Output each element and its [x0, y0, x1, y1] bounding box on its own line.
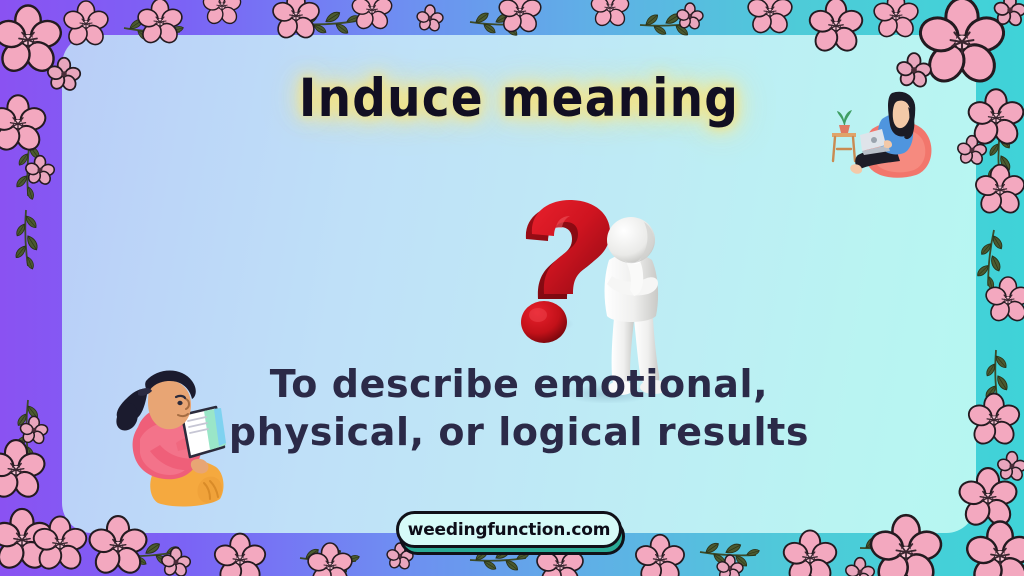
watermark-badge[interactable]: weedingfunction.com: [396, 511, 628, 555]
watermark-text: weedingfunction.com: [408, 520, 611, 540]
woman-reading-book-illustration: [104, 365, 240, 515]
page-title: Induce meaning: [299, 68, 739, 130]
woman-on-beanbag-with-laptop-illustration: [816, 77, 938, 181]
content-panel: Induce meaning: [62, 35, 976, 533]
slide-canvas: Induce meaning: [0, 0, 1024, 576]
watermark-badge-body: weedingfunction.com: [396, 511, 622, 548]
